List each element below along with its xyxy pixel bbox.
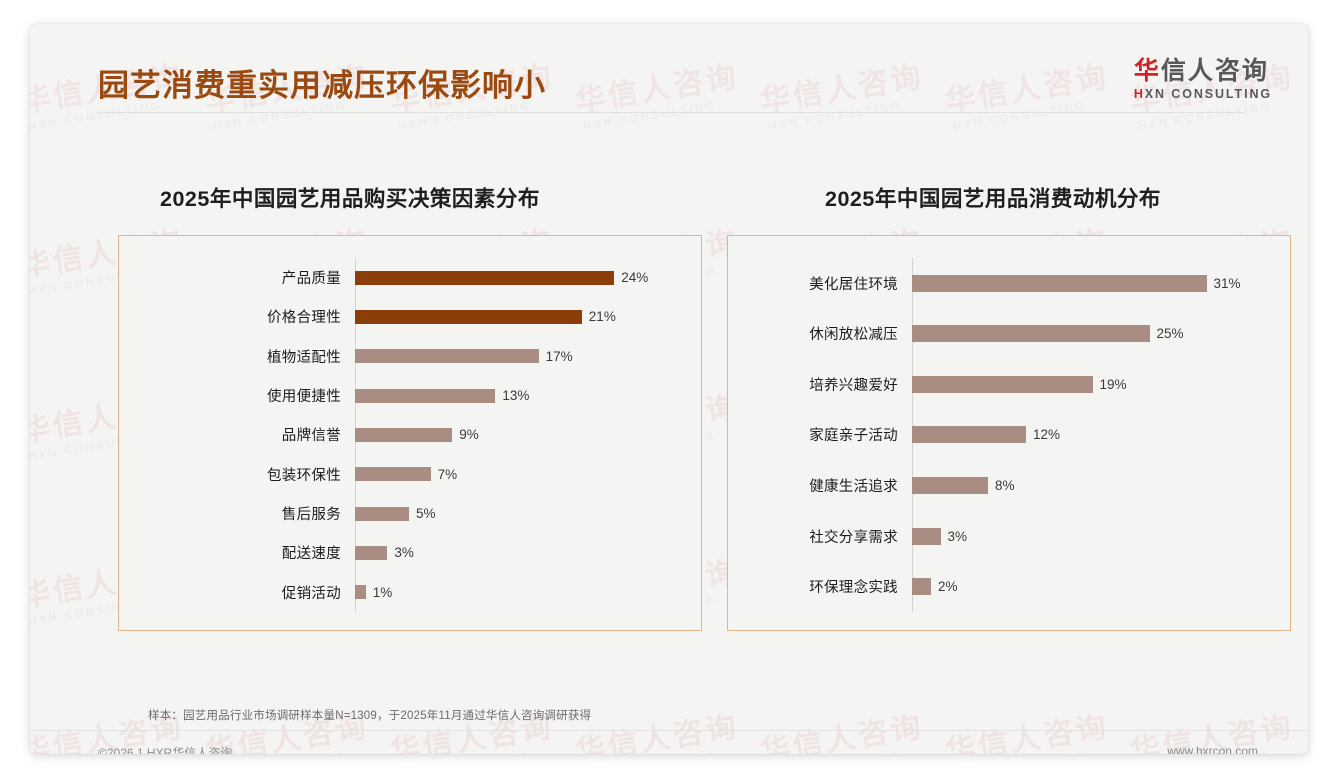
bar-track: 31% — [912, 275, 1276, 292]
bar-category-label: 环保理念实践 — [742, 576, 912, 597]
bar-track: 5% — [355, 506, 687, 521]
bar-row: 促销活动1% — [133, 582, 687, 603]
bar-category-label: 健康生活追求 — [742, 475, 912, 496]
bar-segment — [355, 507, 409, 521]
bar-segment — [912, 528, 941, 545]
bar-row: 健康生活追求8% — [742, 475, 1276, 496]
chart-left-bars: 产品质量24%价格合理性21%植物适配性17%使用便捷性13%品牌信誉9%包装环… — [133, 258, 687, 612]
bar-value-label: 31% — [1214, 276, 1241, 291]
bar-row: 品牌信誉9% — [133, 424, 687, 445]
bar-row: 美化居住环境31% — [742, 273, 1276, 294]
bar-track: 9% — [355, 427, 687, 442]
copyright-text: ©2026.1 HXR华信人咨询 — [98, 744, 232, 754]
bar-value-label: 3% — [394, 545, 414, 560]
header-divider — [98, 112, 1244, 113]
page-title: 园艺消费重实用减压环保影响小 — [98, 60, 546, 105]
bar-value-label: 12% — [1033, 427, 1060, 442]
bar-value-label: 19% — [1100, 377, 1127, 392]
bar-segment — [912, 578, 931, 595]
sample-footnote: 样本：园艺用品行业市场调研样本量N=1309，于2025年11月通过华信人咨询调… — [148, 707, 591, 723]
bar-row: 社交分享需求3% — [742, 526, 1276, 547]
bar-segment — [912, 275, 1207, 292]
bar-segment — [355, 310, 582, 324]
logo-cn-rest: 信人咨询 — [1161, 57, 1269, 85]
bar-row: 售后服务5% — [133, 503, 687, 524]
bar-track: 3% — [355, 545, 687, 560]
bar-row: 环保理念实践2% — [742, 576, 1276, 597]
bar-track: 17% — [355, 349, 687, 364]
bar-category-label: 社交分享需求 — [742, 526, 912, 547]
bar-segment — [355, 585, 366, 599]
bar-track: 8% — [912, 477, 1276, 494]
bar-segment — [355, 349, 539, 363]
bar-track: 24% — [355, 270, 687, 285]
bar-value-label: 1% — [373, 585, 393, 600]
bar-row: 价格合理性21% — [133, 306, 687, 327]
website-url: www.hxrcon.com — [1167, 744, 1258, 754]
chart-right-panel: 美化居住环境31%休闲放松减压25%培养兴趣爱好19%家庭亲子活动12%健康生活… — [727, 235, 1291, 631]
bar-row: 休闲放松减压25% — [742, 323, 1276, 344]
bar-track: 21% — [355, 309, 687, 324]
bar-track: 7% — [355, 467, 687, 482]
bar-value-label: 5% — [416, 506, 436, 521]
bar-category-label: 家庭亲子活动 — [742, 424, 912, 445]
logo-en-first: H — [1134, 87, 1145, 101]
company-logo: 华信人咨询 HXN CONSULTING — [1134, 58, 1272, 101]
bar-category-label: 配送速度 — [133, 542, 355, 563]
bar-track: 2% — [912, 578, 1276, 595]
bar-category-label: 休闲放松减压 — [742, 323, 912, 344]
bar-segment — [912, 325, 1150, 342]
bar-value-label: 13% — [502, 388, 529, 403]
bar-track: 3% — [912, 528, 1276, 545]
bar-value-label: 21% — [589, 309, 616, 324]
bar-value-label: 3% — [948, 529, 968, 544]
logo-en-rest: XN CONSULTING — [1145, 87, 1272, 101]
logo-cn-first: 华 — [1134, 57, 1161, 85]
bar-track: 19% — [912, 376, 1276, 393]
bar-row: 培养兴趣爱好19% — [742, 374, 1276, 395]
slide-footer: ©2026.1 HXR华信人咨询 www.hxrcon.com — [30, 731, 1308, 754]
bar-segment — [912, 426, 1026, 443]
chart-right-bars: 美化居住环境31%休闲放松减压25%培养兴趣爱好19%家庭亲子活动12%健康生活… — [742, 258, 1276, 612]
bar-value-label: 8% — [995, 478, 1015, 493]
bar-segment — [355, 467, 431, 481]
bar-row: 植物适配性17% — [133, 346, 687, 367]
slide-canvas: 华信人咨询HXN CONSULTING华信人咨询HXN CONSULTING华信… — [30, 24, 1308, 754]
bar-value-label: 25% — [1157, 326, 1184, 341]
bar-row: 包装环保性7% — [133, 464, 687, 485]
bar-category-label: 售后服务 — [133, 503, 355, 524]
bar-segment — [355, 271, 614, 285]
bar-category-label: 植物适配性 — [133, 346, 355, 367]
bar-segment — [355, 546, 387, 560]
bar-category-label: 使用便捷性 — [133, 385, 355, 406]
bar-row: 使用便捷性13% — [133, 385, 687, 406]
chart-right-title: 2025年中国园艺用品消费动机分布 — [727, 182, 1291, 213]
slide-header: 园艺消费重实用减压环保影响小 华信人咨询 HXN CONSULTING — [30, 24, 1308, 129]
bar-row: 家庭亲子活动12% — [742, 424, 1276, 445]
logo-english-text: HXN CONSULTING — [1134, 87, 1272, 101]
bar-track: 25% — [912, 325, 1276, 342]
bar-category-label: 产品质量 — [133, 267, 355, 288]
chart-left-panel: 产品质量24%价格合理性21%植物适配性17%使用便捷性13%品牌信誉9%包装环… — [118, 235, 702, 631]
bar-category-label: 美化居住环境 — [742, 273, 912, 294]
bar-track: 1% — [355, 585, 687, 600]
bar-category-label: 包装环保性 — [133, 464, 355, 485]
logo-chinese-text: 华信人咨询 — [1134, 58, 1272, 84]
bar-category-label: 培养兴趣爱好 — [742, 374, 912, 395]
bar-segment — [912, 376, 1093, 393]
bar-segment — [355, 389, 495, 403]
chart-left-title: 2025年中国园艺用品购买决策因素分布 — [118, 182, 702, 213]
bar-track: 13% — [355, 388, 687, 403]
chart-purchase-decision-factors: 2025年中国园艺用品购买决策因素分布 产品质量24%价格合理性21%植物适配性… — [118, 182, 702, 631]
bar-track: 12% — [912, 426, 1276, 443]
bar-row: 产品质量24% — [133, 267, 687, 288]
bar-segment — [912, 477, 988, 494]
bar-category-label: 品牌信誉 — [133, 424, 355, 445]
bar-category-label: 促销活动 — [133, 582, 355, 603]
bar-category-label: 价格合理性 — [133, 306, 355, 327]
bar-value-label: 17% — [546, 349, 573, 364]
bar-value-label: 9% — [459, 427, 479, 442]
bar-segment — [355, 428, 452, 442]
bar-value-label: 7% — [438, 467, 458, 482]
bar-row: 配送速度3% — [133, 542, 687, 563]
bar-value-label: 2% — [938, 579, 958, 594]
bar-value-label: 24% — [621, 270, 648, 285]
chart-consumption-motivation: 2025年中国园艺用品消费动机分布 美化居住环境31%休闲放松减压25%培养兴趣… — [727, 182, 1291, 631]
